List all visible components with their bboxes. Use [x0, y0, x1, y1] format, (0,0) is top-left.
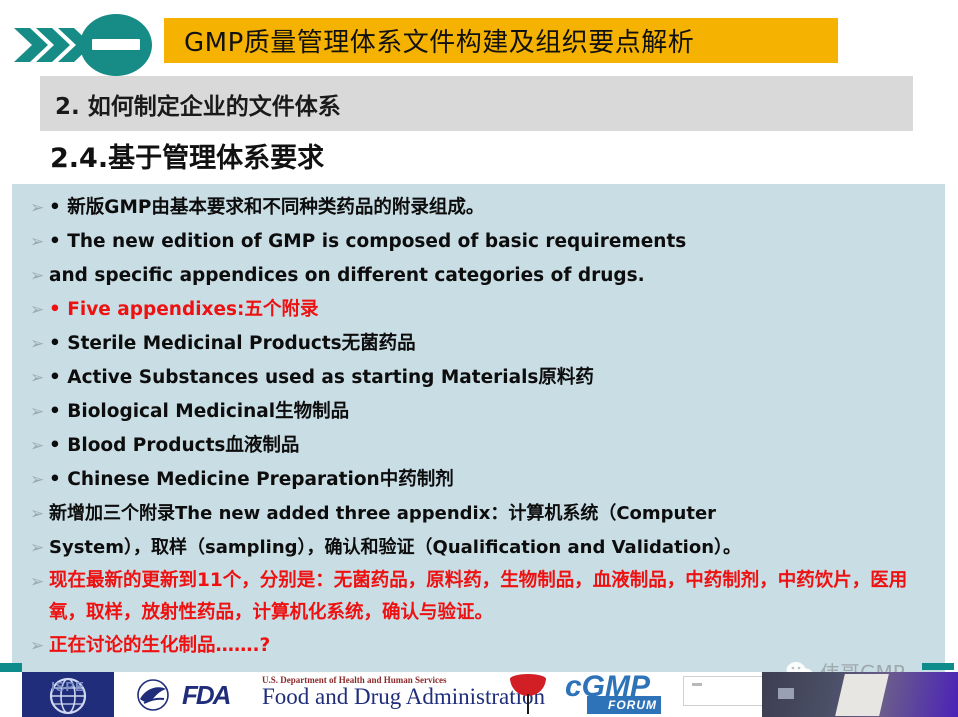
teal-circle-minus-chevrons-logo: [8, 14, 188, 76]
right-teal-tab: [922, 663, 954, 670]
list-item-text: • Biological Medicinal生物制品: [49, 395, 935, 429]
fda-wordmark: FDA: [182, 680, 229, 711]
list-item: ➢ • Active Substances used as starting M…: [30, 361, 935, 395]
red-drop-icon: [500, 674, 556, 716]
cgmp-forum-label: FORUM: [587, 696, 661, 714]
hhs-eagle-icon: [130, 678, 176, 712]
arrow-bullet-icon: ➢: [30, 429, 49, 463]
list-item: ➢ 现在最新的更新到11个，分别是：无菌药品，原料药，生物制品，血液制品，中药制…: [30, 565, 935, 629]
arrow-bullet-icon: ➢: [30, 259, 49, 293]
page-title: GMP质量管理体系文件构建及组织要点解析: [184, 22, 694, 59]
arrow-bullet-icon: ➢: [30, 497, 49, 531]
arrow-bullet-icon: ➢: [30, 463, 49, 497]
content-panel: ➢ • 新版GMP由基本要求和不同种类药品的附录组成。 ➢ • The new …: [12, 184, 945, 680]
brand-logo: [8, 14, 188, 76]
list-item: ➢ 新增加三个附录The new added three appendix：计算…: [30, 497, 935, 531]
section-heading: 2. 如何制定企业的文件体系: [55, 87, 341, 121]
arrow-bullet-icon: ➢: [30, 293, 49, 327]
list-item: ➢ • Chinese Medicine Preparation中药制剂: [30, 463, 935, 497]
cgmp-forum-logo: cGMP FORUM: [565, 672, 663, 716]
speaker-photo-thumbnail: [762, 672, 958, 717]
list-item: ➢ • Biological Medicinal生物制品: [30, 395, 935, 429]
slide-title-band: GMP质量管理体系文件构建及组织要点解析: [164, 18, 838, 63]
photo-shirt-shape: [835, 674, 889, 716]
list-item-text: • Five appendixes:五个附录: [49, 293, 935, 327]
list-item-text: and specific appendices on different cat…: [49, 259, 935, 293]
list-item-text: 现在最新的更新到11个，分别是：无菌药品，原料药，生物制品，血液制品，中药制剂，…: [49, 565, 935, 629]
list-item-text: • The new edition of GMP is composed of …: [49, 225, 935, 259]
arrow-bullet-icon: ➢: [30, 361, 49, 395]
arrow-bullet-icon: ➢: [30, 191, 49, 225]
arrow-bullet-icon: ➢: [30, 395, 49, 429]
arrow-bullet-icon: ➢: [30, 327, 49, 361]
list-item: ➢ • Blood Products血液制品: [30, 429, 935, 463]
list-item-text: • Chinese Medicine Preparation中药制剂: [49, 463, 935, 497]
footer-logo-strip: ISPE FDA U.S. Department of Health and H…: [0, 672, 958, 717]
section-heading-band: 2. 如何制定企业的文件体系: [40, 76, 913, 131]
arrow-bullet-icon: ➢: [30, 565, 49, 599]
placeholder-tick: [692, 683, 702, 686]
list-item-text: • 新版GMP由基本要求和不同种类药品的附录组成。: [49, 191, 935, 225]
ispe-wordmark: ISPE: [51, 679, 85, 694]
list-item: ➢ System），取样（sampling），确认和验证（Qualificati…: [30, 531, 935, 565]
subsection-heading-wrap: 2.4.基于管理体系要求: [50, 134, 750, 176]
list-item-text: • Blood Products血液制品: [49, 429, 935, 463]
list-item: ➢ • The new edition of GMP is composed o…: [30, 225, 935, 259]
arrow-bullet-icon: ➢: [30, 629, 49, 663]
photo-badge-shape: [778, 688, 794, 699]
list-item-text: System），取样（sampling），确认和验证（Qualification…: [49, 531, 935, 565]
list-item-text: • Active Substances used as starting Mat…: [49, 361, 935, 395]
subsection-heading: 2.4.基于管理体系要求: [50, 136, 324, 175]
list-item: ➢ • Sterile Medicinal Products无菌药品: [30, 327, 935, 361]
list-item: ➢ • Five appendixes:五个附录: [30, 293, 935, 327]
ispe-logo: ISPE: [22, 672, 114, 717]
list-item: ➢ • 新版GMP由基本要求和不同种类药品的附录组成。: [30, 191, 935, 225]
arrow-bullet-icon: ➢: [30, 225, 49, 259]
list-item-text: 新增加三个附录The new added three appendix：计算机系…: [49, 497, 935, 531]
list-item-text: • Sterile Medicinal Products无菌药品: [49, 327, 935, 361]
list-item: ➢ and specific appendices on different c…: [30, 259, 935, 293]
arrow-bullet-icon: ➢: [30, 531, 49, 565]
